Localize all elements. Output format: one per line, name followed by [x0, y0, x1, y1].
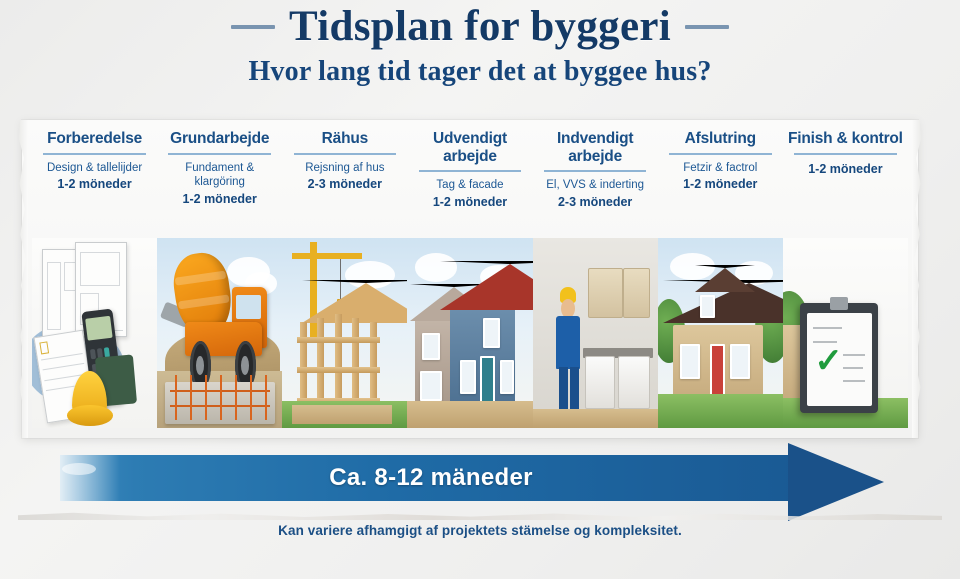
phase-desc: Fundament & klargöring [160, 161, 279, 190]
phase-duration: 1-2 möneder [35, 176, 154, 192]
phase-duration: 1-2 möneder [160, 191, 279, 207]
phase-title: Forberedelse [35, 130, 154, 148]
phase-desc: Rejsning af hus [285, 161, 404, 176]
title-dash-left-icon [231, 25, 275, 29]
illustration-clipboard-checkmark: ✓ [783, 238, 908, 428]
phase-column-grundarbejde: Grundarbejde Fundament & klargöring 1-2 … [157, 130, 282, 245]
title-row: Tidsplan for byggeri [0, 4, 960, 49]
phase-duration: 1-2 möneder [410, 194, 529, 210]
phase-rule [794, 153, 896, 155]
phase-rule [419, 170, 521, 172]
phase-rule [294, 153, 396, 155]
phase-column-udvendigt-arbejde: Udvendigt arbejde Tag & facade 1-2 möned… [407, 130, 532, 245]
phase-rule [544, 170, 646, 172]
phase-rule [168, 153, 270, 155]
phase-column-forberedelse: Forberedelse Design & tallelijder 1-2 mö… [32, 130, 157, 245]
phase-desc: Design & tallelijder [35, 161, 154, 176]
phase-rule [669, 153, 771, 155]
phase-column-finish-kontrol: Finish & kontrol 1-2 möneder [783, 130, 908, 245]
phase-column-rahus: Rähus Rejsning af hus 2-3 möneder [282, 130, 407, 245]
checkmark-icon: ✓ [814, 344, 843, 378]
phase-column-afslutring: Afslutring Fetzir & factrol 1-2 möneder [658, 130, 783, 245]
clipboard-icon: ✓ [800, 303, 878, 413]
phase-column-indvendigt-arbejde: Indvendigt arbejde El, VVS & inderting 2… [533, 130, 658, 245]
phase-desc: Fetzir & factrol [661, 161, 780, 176]
phase-desc: Tag & facade [410, 178, 529, 193]
illustration-finished-house-red-door [658, 238, 783, 428]
phase-desc: El, VVS & inderting [536, 178, 655, 193]
phase-title: Rähus [285, 130, 404, 148]
illustration-timber-frame-crane [282, 238, 407, 428]
phase-duration: 2-3 möneder [285, 176, 404, 192]
total-duration-label: Ca. 8-12 mäneder [60, 455, 802, 501]
illustration-blue-house-red-roof [407, 238, 532, 428]
footnote: Kan variere afhamgigt af projektets stäm… [0, 523, 960, 538]
illustration-strip: ✓ [32, 238, 908, 428]
illustration-concrete-mixer-foundation [157, 238, 282, 428]
illustration-kitchen-interior-worker [533, 238, 658, 428]
phase-title: Udvendigt arbejde [410, 130, 529, 165]
total-duration-arrow: Ca. 8-12 mäneder [60, 443, 910, 521]
phase-rule [43, 153, 145, 155]
phase-duration: 1-2 möneder [786, 161, 905, 177]
illustration-blueprints-calculator-helmet [32, 238, 157, 428]
arrow-head-icon [788, 443, 884, 521]
phase-duration: 2-3 möneder [536, 194, 655, 210]
title-dash-right-icon [685, 25, 729, 29]
phase-title: Indvendigt arbejde [536, 130, 655, 165]
phase-duration: 1-2 möneder [661, 176, 780, 192]
phase-header-row: Forberedelse Design & tallelijder 1-2 mö… [22, 120, 918, 245]
header-block: Tidsplan for byggeri Hvor lang tid tager… [0, 0, 960, 88]
timeline-card: Forberedelse Design & tallelijder 1-2 mö… [22, 120, 918, 438]
phase-title: Grundarbejde [160, 130, 279, 148]
phase-title: Afslutring [661, 130, 780, 148]
page-subtitle: Hvor lang tid tager det at byggee hus? [0, 56, 960, 88]
page-title: Tidsplan for byggeri [289, 4, 671, 49]
phase-title: Finish & kontrol [786, 130, 905, 148]
